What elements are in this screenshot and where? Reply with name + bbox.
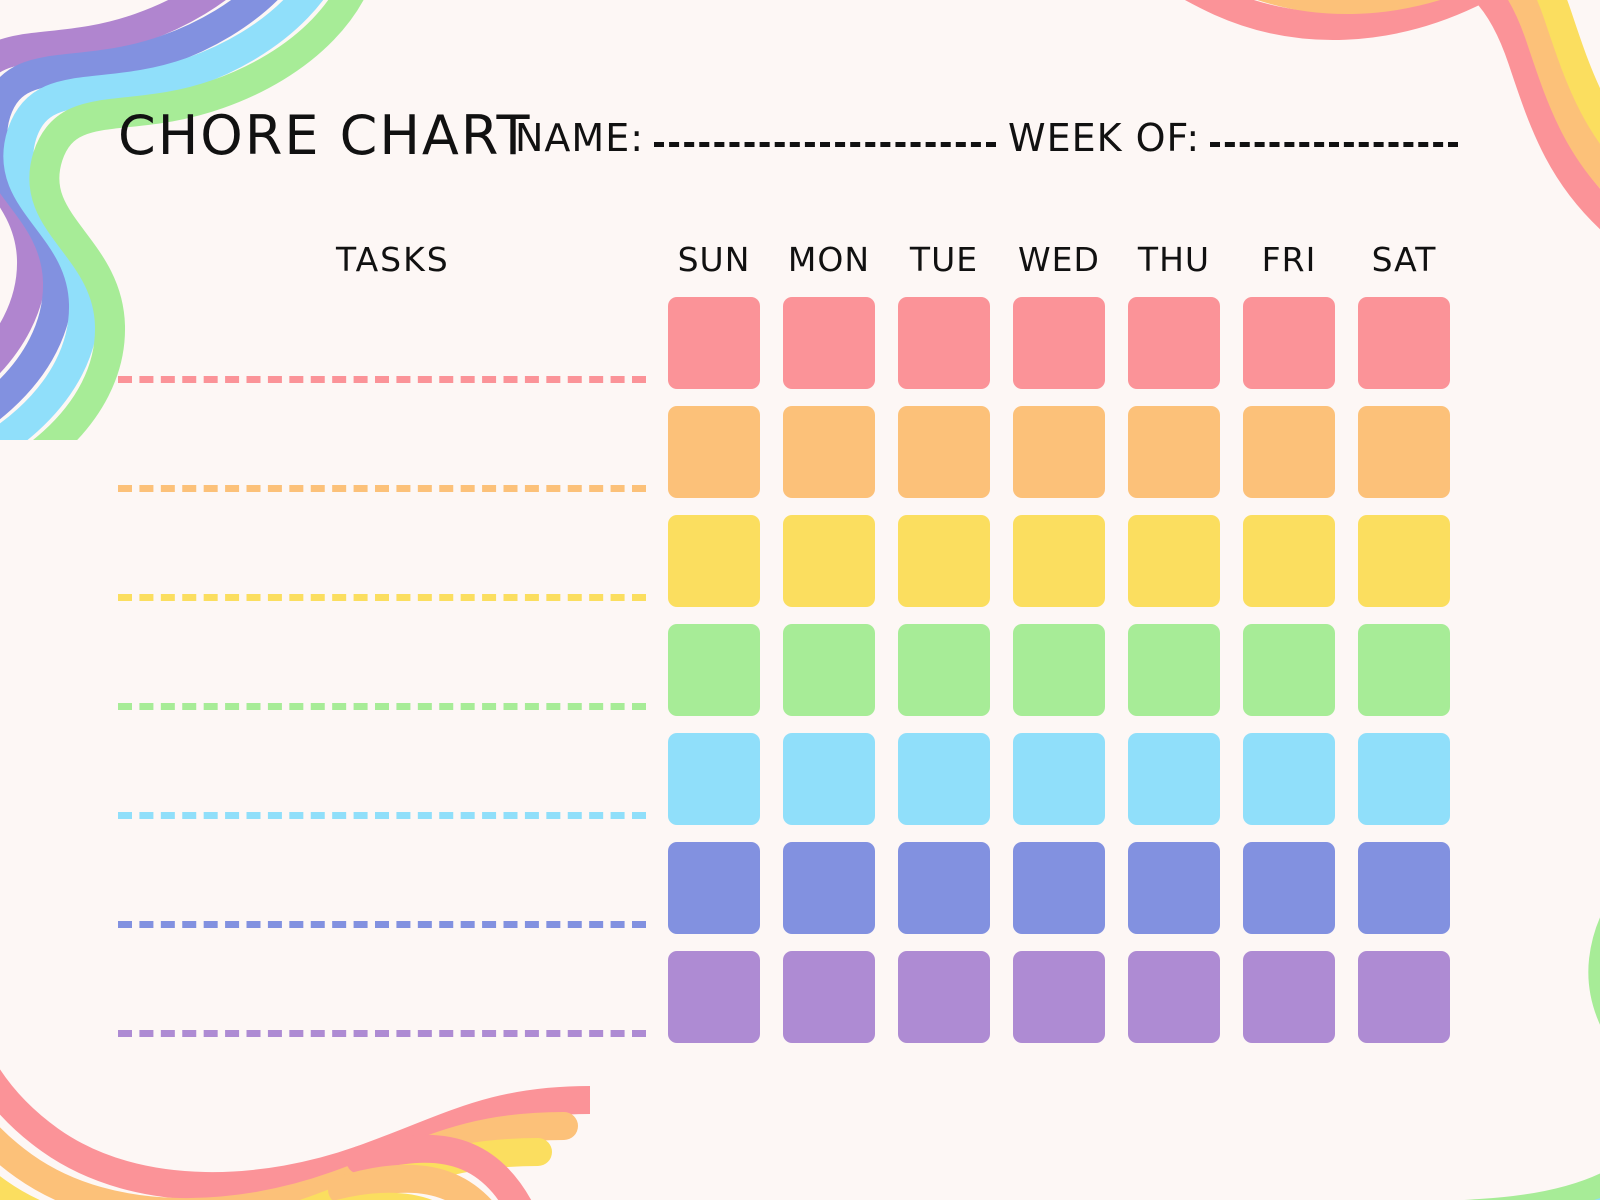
checkbox-cell-tue[interactable]	[898, 842, 990, 934]
day-header-tue: TUE	[898, 240, 990, 279]
day-header-fri: FRI	[1243, 240, 1335, 279]
name-field-group: NAME:	[515, 116, 996, 160]
chore-chart-page: CHORE CHART NAME: WEEK OF: TASKS SUN MON…	[0, 0, 1600, 1200]
checkbox-cell-tue[interactable]	[898, 515, 990, 607]
checkbox-cell-wed[interactable]	[1013, 406, 1105, 498]
chart-header: CHORE CHART NAME: WEEK OF:	[0, 104, 1600, 184]
checkbox-cell-sun[interactable]	[668, 733, 760, 825]
checkbox-cell-fri[interactable]	[1243, 624, 1335, 716]
chore-row	[0, 733, 1600, 825]
task-name-input[interactable]	[118, 1030, 646, 1037]
checkbox-cell-thu[interactable]	[1128, 515, 1220, 607]
checkbox-cell-sun[interactable]	[668, 515, 760, 607]
task-name-input[interactable]	[118, 703, 646, 710]
day-header-sat: SAT	[1358, 240, 1450, 279]
checkbox-cell-mon[interactable]	[783, 842, 875, 934]
checkbox-cell-sun[interactable]	[668, 624, 760, 716]
checkbox-cell-tue[interactable]	[898, 297, 990, 389]
day-header-mon: MON	[783, 240, 875, 279]
checkbox-cell-sat[interactable]	[1358, 406, 1450, 498]
checkbox-cell-fri[interactable]	[1243, 406, 1335, 498]
checkbox-cell-wed[interactable]	[1013, 842, 1105, 934]
name-input[interactable]	[654, 142, 996, 147]
name-label: NAME:	[515, 116, 644, 160]
chore-row	[0, 842, 1600, 934]
checkbox-cell-group	[668, 406, 1450, 498]
checkbox-cell-sat[interactable]	[1358, 951, 1450, 1043]
checkbox-cell-tue[interactable]	[898, 624, 990, 716]
chore-row	[0, 951, 1600, 1043]
week-of-field-group: WEEK OF:	[1008, 116, 1458, 160]
week-of-input[interactable]	[1210, 142, 1458, 147]
chore-row	[0, 515, 1600, 607]
task-name-input[interactable]	[118, 376, 646, 383]
day-header-thu: THU	[1128, 240, 1220, 279]
day-header-wed: WED	[1013, 240, 1105, 279]
chore-row	[0, 624, 1600, 716]
task-name-input[interactable]	[118, 485, 646, 492]
checkbox-cell-tue[interactable]	[898, 733, 990, 825]
checkbox-cell-wed[interactable]	[1013, 297, 1105, 389]
checkbox-cell-fri[interactable]	[1243, 297, 1335, 389]
chore-row	[0, 406, 1600, 498]
checkbox-cell-wed[interactable]	[1013, 624, 1105, 716]
chore-row	[0, 297, 1600, 389]
checkbox-cell-fri[interactable]	[1243, 733, 1335, 825]
checkbox-cell-sat[interactable]	[1358, 624, 1450, 716]
checkbox-cell-thu[interactable]	[1128, 297, 1220, 389]
day-header-sun: SUN	[668, 240, 760, 279]
page-title: CHORE CHART	[118, 104, 531, 167]
checkbox-cell-thu[interactable]	[1128, 951, 1220, 1043]
checkbox-cell-group	[668, 842, 1450, 934]
tasks-column-heading: TASKS	[336, 240, 450, 279]
checkbox-cell-thu[interactable]	[1128, 842, 1220, 934]
checkbox-cell-thu[interactable]	[1128, 406, 1220, 498]
checkbox-cell-fri[interactable]	[1243, 951, 1335, 1043]
task-name-input[interactable]	[118, 594, 646, 601]
checkbox-cell-wed[interactable]	[1013, 515, 1105, 607]
checkbox-cell-group	[668, 297, 1450, 389]
checkbox-cell-mon[interactable]	[783, 515, 875, 607]
checkbox-cell-mon[interactable]	[783, 297, 875, 389]
checkbox-cell-group	[668, 951, 1450, 1043]
checkbox-cell-tue[interactable]	[898, 406, 990, 498]
checkbox-cell-group	[668, 515, 1450, 607]
checkbox-cell-sat[interactable]	[1358, 297, 1450, 389]
checkbox-cell-wed[interactable]	[1013, 733, 1105, 825]
checkbox-cell-group	[668, 624, 1450, 716]
checkbox-cell-wed[interactable]	[1013, 951, 1105, 1043]
checkbox-cell-tue[interactable]	[898, 951, 990, 1043]
day-header-row: SUN MON TUE WED THU FRI SAT	[668, 240, 1450, 279]
checkbox-cell-sun[interactable]	[668, 406, 760, 498]
checkbox-cell-mon[interactable]	[783, 624, 875, 716]
checkbox-cell-thu[interactable]	[1128, 624, 1220, 716]
checkbox-cell-thu[interactable]	[1128, 733, 1220, 825]
checkbox-cell-sat[interactable]	[1358, 842, 1450, 934]
checkbox-cell-sun[interactable]	[668, 297, 760, 389]
task-name-input[interactable]	[118, 921, 646, 928]
week-of-label: WEEK OF:	[1008, 116, 1200, 160]
checkbox-cell-mon[interactable]	[783, 406, 875, 498]
checkbox-cell-mon[interactable]	[783, 733, 875, 825]
checkbox-cell-sat[interactable]	[1358, 515, 1450, 607]
checkbox-cell-fri[interactable]	[1243, 842, 1335, 934]
checkbox-cell-mon[interactable]	[783, 951, 875, 1043]
chore-grid	[0, 297, 1600, 1043]
checkbox-cell-group	[668, 733, 1450, 825]
checkbox-cell-fri[interactable]	[1243, 515, 1335, 607]
task-name-input[interactable]	[118, 812, 646, 819]
checkbox-cell-sat[interactable]	[1358, 733, 1450, 825]
checkbox-cell-sun[interactable]	[668, 842, 760, 934]
checkbox-cell-sun[interactable]	[668, 951, 760, 1043]
